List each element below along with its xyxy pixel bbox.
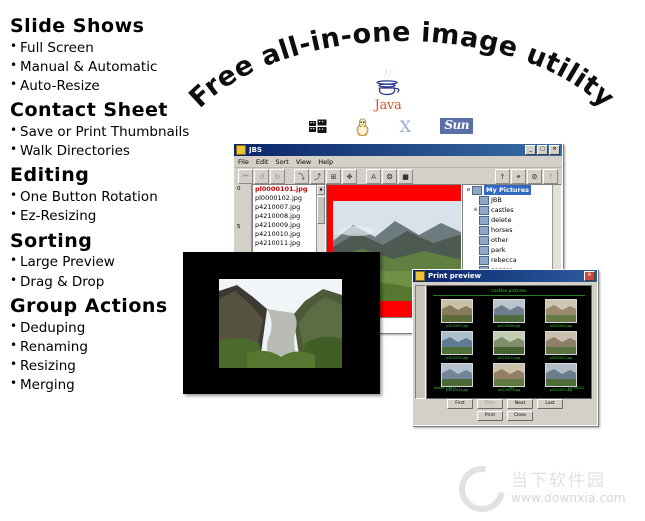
thumbnail-cell[interactable]: p4210010.jpg	[433, 331, 482, 360]
folder-label: rebecca	[491, 255, 517, 265]
thumbnail-caption: p4210012.jpg	[550, 356, 572, 360]
feature-item: Auto-Resize	[10, 77, 235, 96]
scroll-up-button[interactable]: ▲	[317, 185, 325, 195]
menu-item-edit[interactable]: Edit	[256, 158, 269, 166]
print-titlebar: Print preview ×	[413, 270, 597, 282]
close-button[interactable]: ×	[549, 145, 560, 155]
feature-item: Save or Print Thumbnails	[10, 123, 235, 142]
folder-tree-item[interactable]: park	[463, 245, 561, 255]
first-button[interactable]: First	[447, 399, 473, 409]
folder-tree-item[interactable]: ⊕castles	[463, 205, 561, 215]
text-button[interactable]: A	[366, 169, 381, 184]
last-button[interactable]: Last	[537, 399, 563, 409]
folder-label: castles	[491, 205, 514, 215]
feature-heading: Contact Sheet	[10, 100, 235, 122]
footer-left: sheet 1 of 3	[434, 386, 455, 390]
ruler-mark-5: 5	[237, 224, 241, 230]
watermark-ring-icon	[450, 457, 514, 521]
folder-label: horses	[491, 225, 513, 235]
help-button[interactable]: ?	[543, 169, 558, 184]
feature-group: EditingOne Button RotationEz-Resizing	[10, 165, 235, 226]
windows-icon	[308, 118, 328, 135]
thumbnail-cell[interactable]: p4210008.jpg	[485, 299, 534, 328]
ruler-mark-0: 0	[237, 186, 241, 192]
java-wordmark: Java	[362, 99, 414, 112]
folder-tree-item[interactable]: delete	[463, 215, 561, 225]
thumbnail-image	[441, 363, 473, 387]
menu-item-view[interactable]: View	[296, 158, 311, 166]
jbs-titlebar: JBS _ □ ×	[234, 144, 562, 156]
maximize-button[interactable]: □	[537, 145, 548, 155]
folder-icon	[479, 236, 489, 245]
folder-tree-item[interactable]: JBB	[463, 195, 561, 205]
feature-heading: Editing	[10, 165, 235, 187]
fill-button[interactable]: ■	[398, 169, 413, 184]
feature-item: One Button Rotation	[10, 188, 235, 207]
thumbnail-caption: p4210011.jpg	[498, 356, 520, 360]
prev-button: Prev	[477, 399, 503, 409]
sort-button[interactable]: ↑	[495, 169, 510, 184]
print-app-icon	[415, 271, 425, 281]
thumbnail-image	[545, 331, 577, 355]
thumbnail-cell[interactable]: p4210012.jpg	[536, 331, 585, 360]
java-logo: Java	[362, 66, 414, 112]
minimize-button[interactable]: _	[525, 145, 536, 155]
feature-item: Walk Directories	[10, 142, 235, 161]
linux-tux-icon	[355, 117, 370, 136]
folder-icon	[472, 186, 482, 195]
folder-tree-item[interactable]: other	[463, 235, 561, 245]
footer-center: 9/9	[509, 386, 515, 390]
watermark-chinese: 当下软件园	[511, 472, 626, 492]
x-window-icon: X	[397, 117, 414, 135]
thumbnail-caption: p4210007.jpg	[446, 324, 468, 328]
rotate-right-button[interactable]: ⤴	[310, 169, 325, 184]
folder-label: other	[491, 235, 508, 245]
folder-label: delete	[491, 215, 511, 225]
print-preview-window[interactable]: Print preview × castles pictures p421000…	[412, 269, 598, 426]
sun-solaris-icon: Sun	[440, 118, 473, 134]
thumbnail-caption: p4210008.jpg	[498, 324, 520, 328]
jbs-window-title: JBS	[249, 146, 525, 154]
print-close-button[interactable]: ×	[584, 271, 595, 281]
jbs-menubar[interactable]: FileEditSortViewHelp	[234, 156, 562, 168]
folder-tree-item[interactable]: horses	[463, 225, 561, 235]
tree-expand-icon[interactable]: ⊖	[465, 185, 472, 195]
tree-expand-icon[interactable]: ⊕	[472, 205, 479, 215]
folder-label: park	[491, 245, 506, 255]
watermark-text: 当下软件园 www.downxia.com	[511, 472, 626, 505]
action-buttons[interactable]: PrintClose	[477, 411, 533, 421]
thumbnail-caption: p4210009.jpg	[550, 324, 572, 328]
file-list-item[interactable]: p4210008.jpg	[253, 212, 325, 221]
thumbnail-cell[interactable]: p4210011.jpg	[485, 331, 534, 360]
feature-heading: Sorting	[10, 231, 235, 253]
thumbnail-image	[441, 331, 473, 355]
first-button[interactable]: ⏮	[238, 169, 253, 184]
toolbar-right-group[interactable]: ↑⚭⚙?	[495, 169, 558, 184]
rotate-left-button[interactable]: ⤵	[294, 169, 309, 184]
file-list-item[interactable]: pl0000102.jpg	[253, 194, 325, 203]
footer-right: 03/04/02	[568, 386, 584, 390]
thumbnail-image	[545, 299, 577, 323]
toolbar-left-group[interactable]: ⏮↺↻⤵⤴⊞✥A❂■	[238, 169, 413, 184]
svg-text:X: X	[399, 117, 411, 135]
folder-tree-item[interactable]: ⊖My Pictures	[463, 185, 561, 195]
back-button[interactable]: ↺	[254, 169, 269, 184]
folder-icon	[479, 206, 489, 215]
site-watermark: 当下软件园 www.downxia.com	[459, 466, 626, 512]
file-list-item[interactable]: p4210011.jpg	[253, 239, 325, 248]
slideshow-photo	[219, 279, 342, 368]
resize-button[interactable]: ⊞	[326, 169, 341, 184]
file-list-item[interactable]: p4210007.jpg	[253, 203, 325, 212]
print-window-controls[interactable]: ×	[584, 271, 595, 281]
folder-label: JBB	[491, 195, 502, 205]
print-button[interactable]: Print	[477, 411, 503, 421]
menu-item-file[interactable]: File	[238, 158, 249, 166]
folder-label: My Pictures	[484, 185, 531, 195]
thumbnail-image	[545, 363, 577, 387]
print-canvas: castles pictures p4210007.jpgp4210008.jp…	[426, 285, 592, 399]
watermark-url: www.downxia.com	[511, 492, 626, 506]
thumbnail-caption: p4210010.jpg	[446, 356, 468, 360]
folder-icon	[479, 216, 489, 225]
navigation-buttons[interactable]: FirstPrevNextLast	[447, 399, 563, 409]
jbs-app-icon	[236, 145, 246, 155]
scroll-thumb[interactable]	[317, 196, 325, 224]
thumbnail-image	[441, 299, 473, 323]
print-button-bar[interactable]: FirstPrevNextLast PrintClose	[413, 399, 597, 421]
folder-icon	[479, 246, 489, 255]
contact-sheet-title: castles pictures	[433, 288, 585, 296]
link-button[interactable]: ⚭	[511, 169, 526, 184]
folder-tree-item[interactable]: rebecca	[463, 255, 561, 265]
forward-button[interactable]: ↻	[270, 169, 285, 184]
settings-button[interactable]: ⚙	[527, 169, 542, 184]
print-margin-gutter	[415, 285, 426, 399]
file-list-item[interactable]: p4210009.jpg	[253, 221, 325, 230]
menu-item-sort[interactable]: Sort	[275, 158, 288, 166]
thumbnail-image	[493, 299, 525, 323]
feature-group: Contact SheetSave or Print ThumbnailsWal…	[10, 100, 235, 161]
jbs-window-controls[interactable]: _ □ ×	[525, 145, 560, 155]
print-window-title: Print preview	[428, 272, 584, 280]
thumbnail-grid[interactable]: p4210007.jpgp4210008.jpgp4210009.jpgp421…	[427, 299, 591, 385]
feature-item: Ez-Resizing	[10, 207, 235, 226]
next-button[interactable]: Next	[507, 399, 533, 409]
thumbnail-image	[493, 363, 525, 387]
thumbnail-cell[interactable]: p4210007.jpg	[433, 299, 482, 328]
toolbar-separator	[286, 169, 293, 184]
feature-heading: Slide Shows	[10, 16, 235, 38]
feature-item: Manual & Automatic	[10, 58, 235, 77]
menu-item-help[interactable]: Help	[318, 158, 333, 166]
feature-item: Full Screen	[10, 39, 235, 58]
full-screen-slideshow-window[interactable]	[183, 252, 380, 394]
toolbar-separator	[358, 169, 365, 184]
thumbnail-image	[493, 331, 525, 355]
color-button[interactable]: ❂	[382, 169, 397, 184]
file-list-item[interactable]: p4210010.jpg	[253, 230, 325, 239]
close-button[interactable]: Close	[507, 411, 533, 421]
folder-icon	[479, 256, 489, 265]
file-list-item[interactable]: pl0000101.jpg	[253, 185, 325, 194]
platform-icon-row: X Sun	[308, 114, 473, 138]
java-coffee-cup-icon	[371, 66, 405, 100]
feature-group: Slide ShowsFull ScreenManual & Automatic…	[10, 16, 235, 96]
move-button[interactable]: ✥	[342, 169, 357, 184]
folder-icon	[479, 196, 489, 205]
folder-icon	[479, 226, 489, 235]
thumbnail-cell[interactable]: p4210009.jpg	[536, 299, 585, 328]
